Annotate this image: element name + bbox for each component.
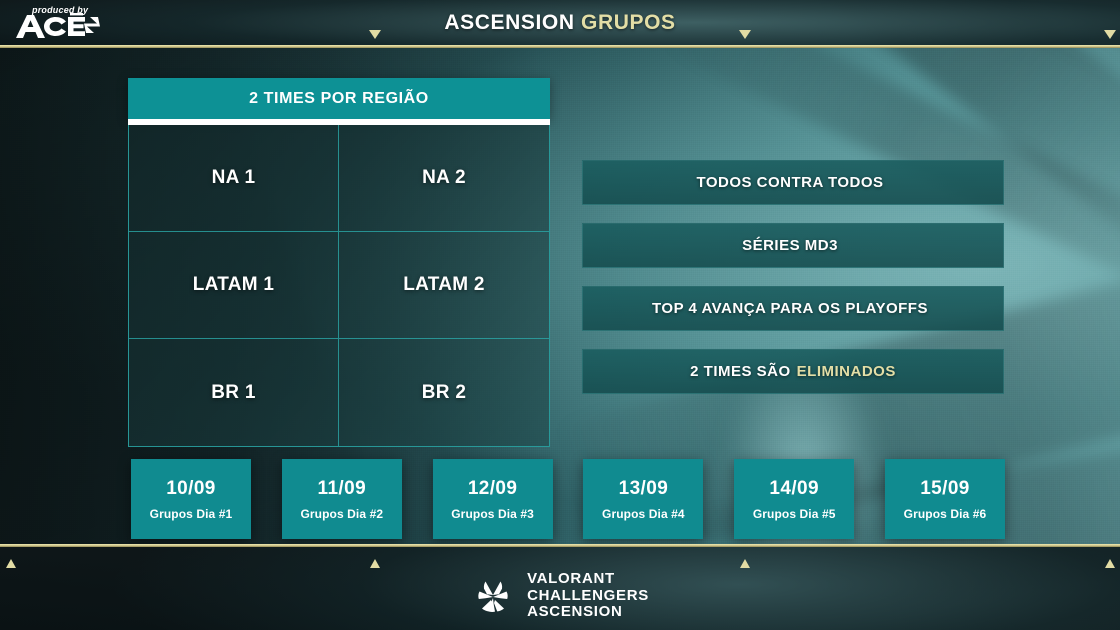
schedule-card-date: 10/09 (166, 478, 216, 500)
schedule-card[interactable]: 10/09 Grupos Dia #1 (131, 459, 251, 539)
team-slot: NA 2 (339, 125, 549, 232)
rule-item: TOP 4 AVANÇA PARA OS PLAYOFFS (582, 286, 1004, 331)
schedule-card-date: 11/09 (318, 478, 367, 500)
team-slot: LATAM 1 (129, 232, 339, 339)
page-title: ASCENSION GRUPOS (0, 11, 1120, 35)
schedule-card-label: Grupos Dia #4 (602, 507, 685, 521)
tournament-logo-line-3: ASCENSION (527, 604, 649, 620)
schedule-card-label: Grupos Dia #6 (904, 507, 987, 521)
tournament-logo-line-1: VALORANT (527, 571, 649, 587)
rule-item: 2 TIMES SÃO ELIMINADOS (582, 349, 1004, 394)
schedule-card[interactable]: 13/09 Grupos Dia #4 (583, 459, 703, 539)
schedule-card-label: Grupos Dia #1 (150, 507, 233, 521)
team-slot: BR 1 (129, 339, 339, 446)
top-gold-divider (0, 45, 1120, 48)
teams-panel: 2 TIMES POR REGIÃO NA 1 NA 2 LATAM 1 LAT… (128, 78, 550, 447)
chevron-up-icon (370, 559, 380, 568)
schedule-card[interactable]: 14/09 Grupos Dia #5 (734, 459, 854, 539)
schedule-card-label: Grupos Dia #3 (451, 507, 534, 521)
rule-item: SÉRIES MD3 (582, 223, 1004, 268)
rules-list: TODOS CONTRA TODOS SÉRIES MD3 TOP 4 AVAN… (582, 160, 1004, 394)
rule-item: TODOS CONTRA TODOS (582, 160, 1004, 205)
valorant-challengers-ascension-icon (471, 574, 515, 618)
chevron-up-icon (1105, 559, 1115, 568)
rule-text: 2 TIMES SÃO (690, 363, 791, 380)
schedule-row: 10/09 Grupos Dia #1 11/09 Grupos Dia #2 … (131, 459, 1005, 539)
page-title-accent: GRUPOS (581, 11, 676, 34)
rule-text: SÉRIES MD3 (742, 237, 838, 254)
schedule-card-label: Grupos Dia #2 (300, 507, 383, 521)
schedule-card-date: 15/09 (920, 478, 970, 500)
rule-text: TODOS CONTRA TODOS (696, 174, 883, 191)
schedule-card-date: 13/09 (619, 478, 669, 500)
team-slot: BR 2 (339, 339, 549, 446)
chevron-up-icon (740, 559, 750, 568)
rule-accent: ELIMINADOS (797, 363, 896, 380)
page-title-primary: ASCENSION (444, 11, 574, 34)
tournament-logo: VALORANT CHALLENGERS ASCENSION (0, 571, 1120, 620)
schedule-card-date: 14/09 (769, 478, 819, 500)
teams-panel-heading: 2 TIMES POR REGIÃO (128, 78, 550, 119)
slide-canvas: produced by ASCENSION GRUPOS 2 TIMES POR… (0, 0, 1120, 630)
schedule-card-label: Grupos Dia #5 (753, 507, 836, 521)
chevron-up-icon (6, 559, 16, 568)
bottom-gold-divider (0, 544, 1120, 547)
teams-grid: NA 1 NA 2 LATAM 1 LATAM 2 BR 1 BR 2 (128, 125, 550, 447)
tournament-logo-wordmark: VALORANT CHALLENGERS ASCENSION (527, 571, 649, 620)
schedule-card[interactable]: 15/09 Grupos Dia #6 (885, 459, 1005, 539)
team-slot: NA 1 (129, 125, 339, 232)
rule-text: TOP 4 AVANÇA PARA OS PLAYOFFS (652, 300, 928, 317)
schedule-card[interactable]: 12/09 Grupos Dia #3 (433, 459, 553, 539)
team-slot: LATAM 2 (339, 232, 549, 339)
schedule-card-date: 12/09 (468, 478, 518, 500)
tournament-logo-line-2: CHALLENGERS (527, 588, 649, 604)
schedule-card[interactable]: 11/09 Grupos Dia #2 (282, 459, 402, 539)
